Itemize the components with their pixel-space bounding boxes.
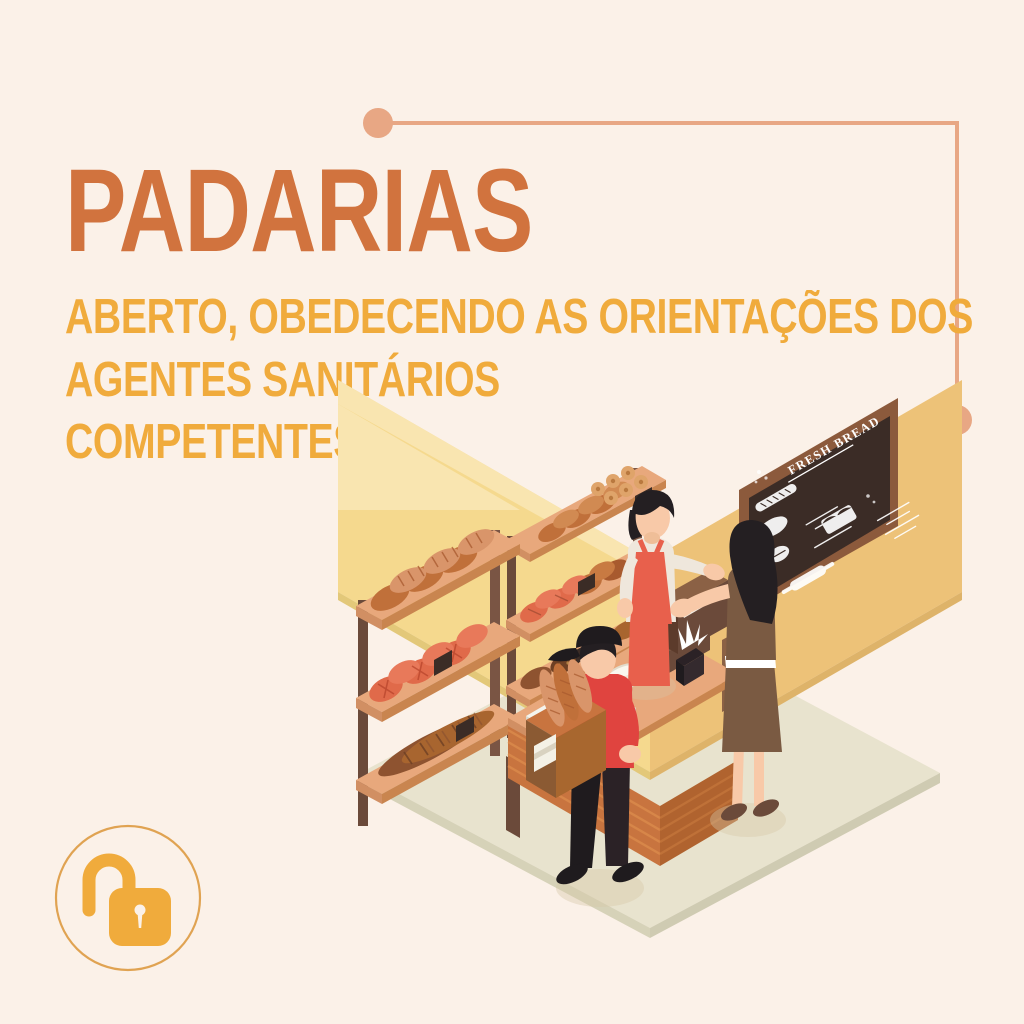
baker-neck	[644, 532, 660, 544]
poster-canvas: PADARIAS ABERTO, OBEDECENDO AS ORIENTAÇÕ…	[0, 0, 1024, 1024]
pants	[602, 762, 630, 866]
baker-skirt	[628, 620, 670, 686]
legs	[754, 746, 764, 806]
subtitle-line-1: ABERTO, OBEDECENDO AS ORIENTAÇÕES DOS	[65, 286, 777, 349]
baker-hand-left	[617, 598, 633, 618]
bakery-illustration: FRESH BREAD	[330, 368, 970, 938]
legs	[732, 746, 744, 808]
shelf-post	[358, 698, 368, 826]
bracket-dot-top	[363, 108, 393, 138]
wall-left-highlight-2	[338, 404, 520, 510]
customer-skirt	[722, 662, 782, 752]
open-lock-badge	[48, 818, 208, 978]
page-title: PADARIAS	[65, 160, 759, 264]
man-hand	[619, 745, 641, 763]
